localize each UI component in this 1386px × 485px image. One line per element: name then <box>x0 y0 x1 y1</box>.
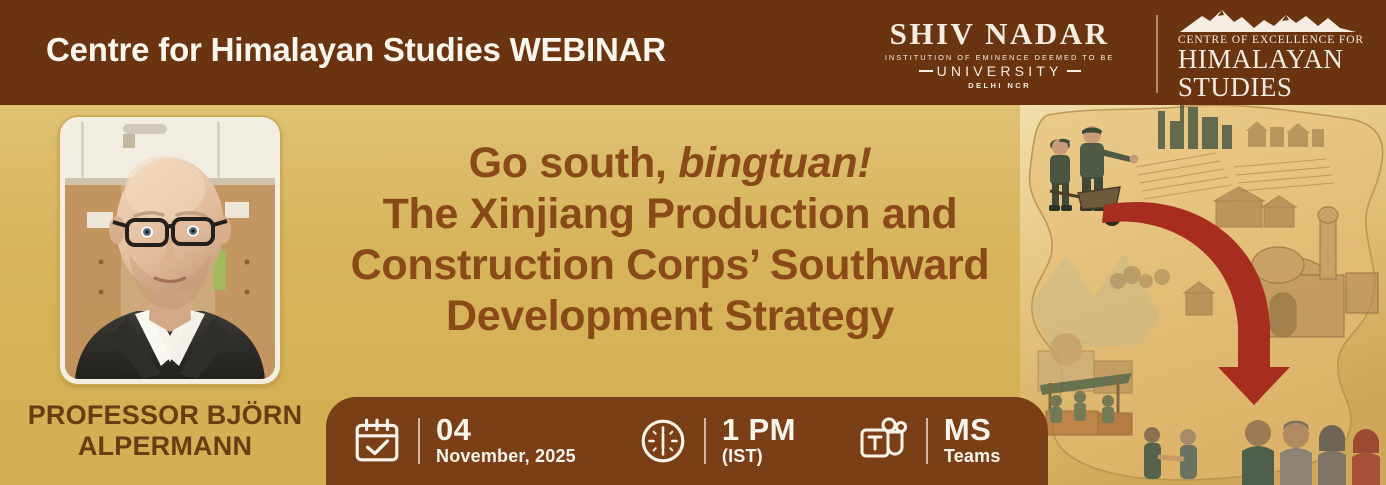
dash-right <box>1067 70 1081 72</box>
speaker-photo-frame <box>60 117 280 384</box>
talk-title-line2: The Xinjiang Production and <box>300 189 1040 240</box>
event-details-bar: 04 November, 2025 1 PM (IST) <box>326 397 1048 485</box>
calendar-check-icon <box>352 416 402 466</box>
dash-left <box>919 70 933 72</box>
speaker-name: PROFESSOR BJÖRN ALPERMANN <box>0 400 330 463</box>
platform-line1: MS <box>944 414 1001 445</box>
banner-header: Centre for Himalayan Studies WEBINAR SHI… <box>0 0 1386 105</box>
event-platform-text: MS Teams <box>944 414 1001 468</box>
ms-teams-icon <box>858 416 910 466</box>
coe-line2: HIMALAYAN <box>1178 46 1344 74</box>
event-time: 1 PM (IST) <box>638 414 796 468</box>
university-name: SHIV NADAR <box>890 18 1110 51</box>
centre-of-excellence-logo: CENTRE OF EXCELLENCE FOR HIMALAYAN STUDI… <box>1178 6 1364 101</box>
webinar-banner: Centre for Himalayan Studies WEBINAR SHI… <box>0 0 1386 485</box>
university-word: UNIVERSITY <box>937 63 1063 79</box>
university-subtitle: INSTITUTION OF EMINENCE DEEMED TO BE <box>885 53 1114 62</box>
portrait-image <box>65 122 275 379</box>
shiv-nadar-university-logo: SHIV NADAR INSTITUTION OF EMINENCE DEEME… <box>885 18 1136 91</box>
clock-icon <box>638 416 688 466</box>
divider-platform <box>926 418 928 464</box>
logo-group: SHIV NADAR INSTITUTION OF EMINENCE DEEME… <box>885 6 1364 102</box>
speaker-photo <box>65 122 275 379</box>
event-day: 04 <box>436 414 576 445</box>
event-time-text: 1 PM (IST) <box>722 414 796 468</box>
talk-title-line1-italic: bingtuan! <box>678 139 871 187</box>
mountain-range-icon <box>1178 6 1358 33</box>
divider-time <box>704 418 706 464</box>
event-platform: MS Teams <box>858 414 1001 468</box>
speaker-name-line2: ALPERMANN <box>0 431 330 462</box>
coe-line3: STUDIES <box>1178 74 1293 102</box>
event-date: 04 November, 2025 <box>352 414 576 468</box>
event-month-year: November, 2025 <box>436 445 576 468</box>
event-hour: 1 PM <box>722 414 796 445</box>
talk-title: Go south, bingtuan! The Xinjiang Product… <box>300 138 1040 343</box>
talk-title-line3: Construction Corps’ Southward <box>300 240 1040 291</box>
talk-title-line4: Development Strategy <box>300 291 1040 342</box>
logo-divider <box>1156 15 1158 93</box>
divider-date <box>418 418 420 464</box>
talk-title-line1-plain: Go south, <box>469 139 679 187</box>
event-timezone: (IST) <box>722 445 796 468</box>
event-date-text: 04 November, 2025 <box>436 414 576 468</box>
speaker-name-line1: PROFESSOR BJÖRN <box>0 400 330 431</box>
university-city: DELHI NCR <box>968 81 1031 90</box>
xinjiang-map-illustration <box>1020 105 1386 485</box>
talk-title-line1: Go south, bingtuan! <box>300 138 1040 189</box>
platform-line2: Teams <box>944 445 1001 468</box>
page-title: Centre for Himalayan Studies WEBINAR <box>46 31 666 69</box>
university-word-row: UNIVERSITY <box>919 63 1081 79</box>
